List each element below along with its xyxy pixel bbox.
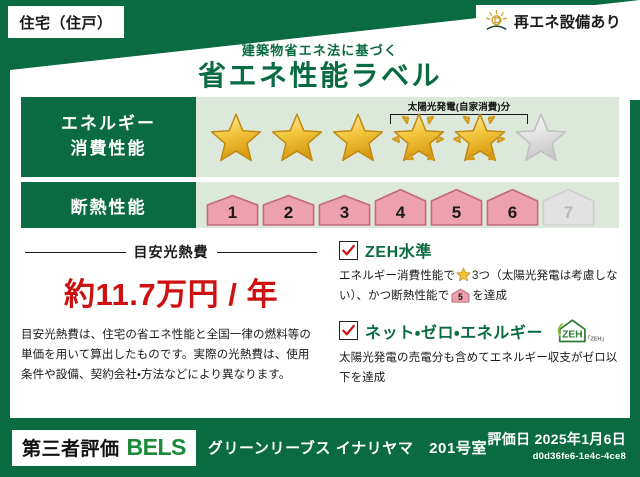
- evaluation-date: 評価日 2025年1月6日: [487, 429, 626, 449]
- svg-text:5: 5: [458, 292, 463, 302]
- bels-en-label: BELS: [127, 434, 186, 461]
- bels-certification-mark: 第三者評価 BELS: [12, 430, 196, 466]
- building-type-tag: 住宅（住戸）: [8, 6, 124, 38]
- energy-performance-label: 住宅（住戸） 再エネ設備あり 建築物省エネ法に基づく 省エネ性能ラベル エネルギ…: [0, 0, 640, 477]
- energy-star-rating: [196, 105, 571, 169]
- star-filled-icon: [271, 112, 323, 162]
- check-icon: [341, 323, 356, 338]
- claim-net-zero-energy: ネット・ゼロ・エネルギー ZEH 「ZEH」 太陽光発電の売電分も含めてエネルギ…: [339, 317, 619, 388]
- evaluation-info: 評価日 2025年1月6日 d0d36fe6-1e4c-4ce8: [487, 429, 626, 462]
- inline-grade-badge-icon: 5: [451, 288, 470, 303]
- title-main: 省エネ性能ラベル: [0, 61, 640, 91]
- utility-cost-column: 目安光熱費 約11.7万円 / 年 目安光熱費は、住宅の省エネ性能と全国一律の燃…: [21, 238, 329, 390]
- renewable-badge-label: 再エネ設備あり: [514, 11, 621, 32]
- renewable-equipment-badge: 再エネ設備あり: [476, 5, 632, 38]
- grade-number: 2: [284, 203, 293, 223]
- utility-cost-heading: 目安光熱費: [25, 242, 317, 262]
- sun-icon: [484, 9, 509, 34]
- claims-column: ZEH水準 エネルギー消費性能で3つ（太陽光発電は考慮しない）、かつ断熱性能で5…: [329, 238, 619, 390]
- claim-zeh-standard-body: エネルギー消費性能で3つ（太陽光発電は考慮しない）、かつ断熱性能で5を達成: [339, 266, 619, 306]
- star-filled-icon: [210, 112, 262, 162]
- grade-number: 6: [508, 203, 517, 223]
- title-subtitle: 建築物省エネ法に基づく: [0, 40, 640, 59]
- insulation-grade-6: 6: [486, 185, 539, 226]
- grade-number: 5: [452, 203, 461, 223]
- bels-jp-label: 第三者評価: [22, 434, 120, 461]
- property-name: グリーンリーブス イナリヤマ 201号室: [208, 437, 487, 458]
- star-5: [450, 105, 510, 169]
- inline-star-icon: [456, 267, 471, 282]
- grade-number: 4: [396, 203, 405, 223]
- label-title-block: 建築物省エネ法に基づく 省エネ性能ラベル: [0, 40, 640, 91]
- claim-text-part3: を達成: [472, 290, 507, 302]
- claim-net-zero-body: 太陽光発電の売電分も含めてエネルギー収支がゼロ以下を達成: [339, 348, 619, 388]
- star-empty-icon: [515, 112, 567, 162]
- svg-text:「ZEH」: 「ZEH」: [585, 335, 607, 343]
- energy-performance-label: エネルギー 消費性能: [21, 97, 196, 177]
- utility-cost-heading-label: 目安光熱費: [134, 242, 209, 262]
- star-1: [206, 105, 266, 169]
- insulation-grade-panel: 1234567: [196, 182, 619, 228]
- grade-number: 7: [564, 203, 573, 223]
- claim-text-part1: エネルギー消費性能で: [339, 270, 455, 282]
- insulation-grade-5: 5: [430, 185, 483, 226]
- label-body-card: エネルギー 消費性能 太陽光発電(自家消費)分 断熱性能 1234567: [10, 88, 630, 418]
- grade-number: 3: [340, 203, 349, 223]
- heading-rule-right: [217, 252, 318, 253]
- utility-cost-note: 目安光熱費は、住宅の省エネ性能と全国一律の燃料等の単価を用いて算出したものです。…: [21, 326, 321, 385]
- label-lower-body: 目安光熱費 約11.7万円 / 年 目安光熱費は、住宅の省エネ性能と全国一律の燃…: [21, 238, 619, 390]
- insulation-grade-7: 7: [542, 185, 595, 226]
- insulation-grade-4: 4: [374, 185, 427, 226]
- claim-zeh-standard: ZEH水準 エネルギー消費性能で3つ（太陽光発電は考慮しない）、かつ断熱性能で5…: [339, 238, 619, 306]
- claim-zeh-standard-head: ZEH水準: [339, 238, 619, 262]
- insulation-performance-label: 断熱性能: [21, 182, 196, 228]
- star-filled-icon: [454, 112, 506, 162]
- label-footer: 第三者評価 BELS グリーンリーブス イナリヤマ 201号室 評価日 2025…: [0, 418, 640, 477]
- claim-net-zero-title: ネット・ゼロ・エネルギー: [365, 319, 543, 343]
- energy-label-line1: エネルギー: [61, 112, 156, 137]
- check-icon: [341, 243, 356, 258]
- energy-performance-row: エネルギー 消費性能 太陽光発電(自家消費)分: [21, 97, 619, 177]
- star-3: [328, 105, 388, 169]
- star-4: [389, 105, 449, 169]
- insulation-grade-3: 3: [318, 191, 371, 226]
- heading-rule-left: [25, 252, 126, 253]
- insulation-grade-2: 2: [262, 191, 315, 226]
- energy-label-line2: 消費性能: [71, 137, 147, 162]
- star-filled-icon: [332, 112, 384, 162]
- zeh-logo-icon: ZEH 「ZEH」: [555, 317, 607, 344]
- star-6: [511, 105, 571, 169]
- insulation-performance-row: 断熱性能 1234567: [21, 182, 619, 228]
- claim-net-zero-head: ネット・ゼロ・エネルギー ZEH 「ZEH」: [339, 317, 619, 344]
- insulation-grade-1: 1: [206, 191, 259, 226]
- star-2: [267, 105, 327, 169]
- utility-cost-value: 約11.7万円 / 年: [21, 269, 321, 314]
- energy-star-panel: 太陽光発電(自家消費)分: [196, 97, 619, 177]
- insulation-label-text: 断熱性能: [71, 193, 147, 218]
- checkbox-zeh-standard[interactable]: [339, 241, 358, 260]
- insulation-grade-scale: 1234567: [196, 185, 595, 226]
- svg-text:ZEH: ZEH: [562, 330, 582, 341]
- star-filled-icon: [393, 112, 445, 162]
- checkbox-net-zero-energy[interactable]: [339, 321, 358, 340]
- claim-zeh-standard-title: ZEH水準: [365, 238, 432, 262]
- evaluation-id: d0d36fe6-1e4c-4ce8: [487, 451, 626, 462]
- building-type-label: 住宅（住戸）: [19, 12, 112, 33]
- grade-number: 1: [228, 203, 237, 223]
